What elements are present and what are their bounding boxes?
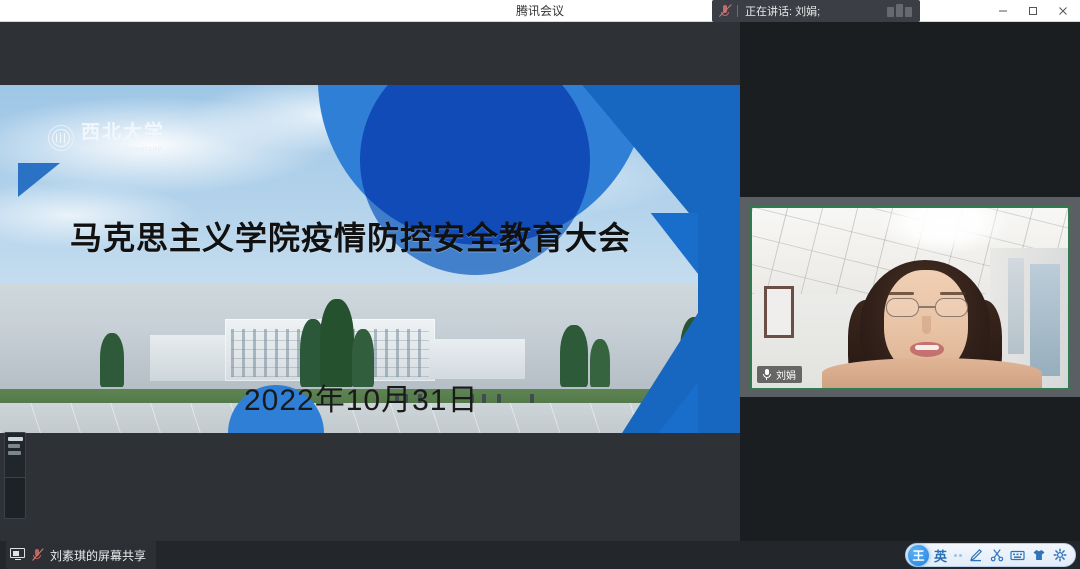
participants-video-panel: 刘娟 (740, 22, 1080, 541)
screen-share-label: 刘素琪的屏幕共享 (50, 547, 146, 564)
campus-person (482, 394, 486, 403)
video-light-glare (880, 206, 1010, 254)
ime-mode-button[interactable]: 英 (931, 546, 950, 565)
muted-mic-icon (31, 548, 44, 562)
panel-top-filler (740, 22, 1080, 197)
maximize-button[interactable] (1018, 0, 1048, 22)
decor-triangle (18, 163, 60, 197)
tencent-meeting-window: 腾讯会议 正在讲话: 刘娟; (0, 0, 1080, 569)
video-person-eyebrow (888, 292, 914, 295)
university-seal-icon (48, 125, 74, 151)
keyboard-icon[interactable] (1008, 546, 1027, 565)
panel-bottom-filler (740, 397, 1080, 541)
mini-panel-row (8, 437, 23, 441)
video-person-glasses (886, 298, 968, 317)
settings-icon[interactable] (1050, 546, 1069, 565)
window-controls (988, 0, 1078, 22)
scissors-icon[interactable] (987, 546, 1006, 565)
presentation-slide: 西北大学 Northwest University 马克思主义学院疫情防控安全教… (0, 85, 740, 433)
video-window (1008, 258, 1024, 354)
glasses-bridge (919, 306, 935, 308)
slide-date: 2022年10月31日 (244, 375, 478, 419)
ime-toolbar[interactable]: 王 英 (905, 543, 1076, 567)
skin-icon[interactable] (1029, 546, 1048, 565)
video-person-shoulder (822, 358, 1042, 388)
video-tile-active-speaker[interactable]: 刘娟 (750, 206, 1070, 390)
glasses-lens (886, 298, 919, 317)
screen-share-status[interactable]: 刘素琪的屏幕共享 (6, 541, 156, 569)
video-participant-name: 刘娟 (776, 367, 796, 382)
mic-icon (761, 369, 772, 380)
audio-waveform-icon (887, 4, 912, 17)
shared-screen-region[interactable]: 西北大学 Northwest University 马克思主义学院疫情防控安全教… (0, 22, 740, 541)
video-feed (752, 208, 1068, 388)
video-person-eyebrow (940, 292, 966, 295)
mini-panel-row (8, 444, 20, 448)
screen-share-icon (10, 548, 25, 562)
campus-person (530, 394, 534, 403)
campus-tree (560, 325, 588, 387)
campus-tree (320, 299, 354, 387)
decor-right-edge-bar (698, 85, 740, 433)
video-person-mouth (910, 342, 944, 357)
video-window (1030, 264, 1060, 376)
minimize-button[interactable] (988, 0, 1018, 22)
ime-status-dots (952, 554, 964, 557)
campus-building-left (150, 335, 230, 381)
ime-logo-button[interactable]: 王 (908, 545, 929, 566)
campus-building-right (430, 339, 525, 379)
university-name-en: Northwest University (81, 144, 165, 153)
muted-mic-icon (718, 4, 732, 18)
campus-tree (100, 333, 124, 387)
video-name-badge: 刘娟 (757, 366, 802, 383)
shared-screen-canvas: 西北大学 Northwest University 马克思主义学院疫情防控安全教… (0, 22, 740, 519)
video-picture-frame (764, 286, 794, 338)
university-logo: 西北大学 Northwest University (48, 123, 165, 153)
university-name-cn: 西北大学 (81, 123, 165, 143)
campus-person (497, 394, 501, 403)
pen-icon[interactable] (966, 546, 985, 565)
active-speaker-indicator: 正在讲话: 刘娟; (712, 0, 920, 22)
campus-tree (590, 339, 610, 387)
presenter-mini-strip[interactable] (4, 477, 26, 519)
university-logo-text: 西北大学 Northwest University (81, 123, 165, 153)
slide-title: 马克思主义学院疫情防控安全教育大会 (70, 213, 631, 259)
video-person-nose (922, 316, 931, 334)
glasses-lens (935, 298, 968, 317)
active-speaker-label: 正在讲话: 刘娟; (745, 3, 820, 19)
chip-divider (737, 5, 738, 17)
mini-panel-row (8, 451, 21, 455)
close-button[interactable] (1048, 0, 1078, 22)
presenter-mini-panel[interactable] (4, 432, 26, 482)
